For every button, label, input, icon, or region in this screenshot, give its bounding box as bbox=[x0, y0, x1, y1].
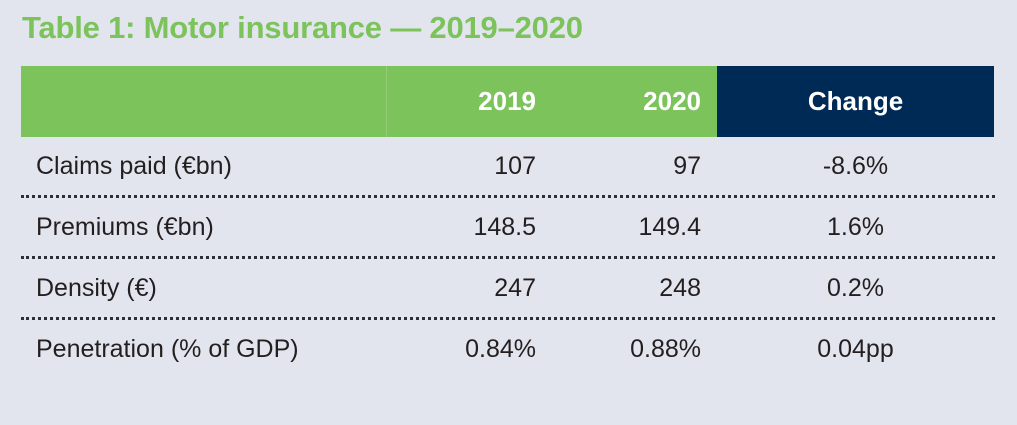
cell-metric: Density (€) bbox=[21, 259, 387, 317]
cell-change: 0.04pp bbox=[717, 320, 994, 378]
table-row: Premiums (€bn) 148.5 149.4 1.6% bbox=[21, 195, 995, 256]
cell-change: 0.2% bbox=[717, 259, 994, 317]
cell-2019: 107 bbox=[387, 137, 552, 195]
header-cell-2020: 2020 bbox=[552, 66, 717, 137]
cell-change: 1.6% bbox=[717, 198, 994, 256]
table-header-row: 2019 2020 Change bbox=[21, 66, 995, 137]
cell-2019: 0.84% bbox=[387, 320, 552, 378]
cell-2020: 248 bbox=[552, 259, 717, 317]
cell-change: -8.6% bbox=[717, 137, 994, 195]
header-cell-metric bbox=[21, 66, 386, 137]
header-cell-2019: 2019 bbox=[387, 66, 552, 137]
cell-2020: 0.88% bbox=[552, 320, 717, 378]
table-body: Claims paid (€bn) 107 97 -8.6% Premiums … bbox=[21, 137, 995, 378]
header-cell-change: Change bbox=[717, 66, 994, 137]
page-title: Table 1: Motor insurance — 2019–2020 bbox=[22, 8, 583, 48]
table-row: Penetration (% of GDP) 0.84% 0.88% 0.04p… bbox=[21, 317, 995, 378]
cell-metric: Claims paid (€bn) bbox=[21, 137, 387, 195]
cell-metric: Premiums (€bn) bbox=[21, 198, 387, 256]
cell-metric: Penetration (% of GDP) bbox=[21, 320, 387, 378]
cell-2020: 149.4 bbox=[552, 198, 717, 256]
table-row: Claims paid (€bn) 107 97 -8.6% bbox=[21, 137, 995, 195]
table-row: Density (€) 247 248 0.2% bbox=[21, 256, 995, 317]
cell-2020: 97 bbox=[552, 137, 717, 195]
motor-insurance-table: 2019 2020 Change Claims paid (€bn) 107 9… bbox=[21, 66, 995, 378]
table-page: Table 1: Motor insurance — 2019–2020 201… bbox=[0, 0, 1017, 425]
cell-2019: 148.5 bbox=[387, 198, 552, 256]
cell-2019: 247 bbox=[387, 259, 552, 317]
